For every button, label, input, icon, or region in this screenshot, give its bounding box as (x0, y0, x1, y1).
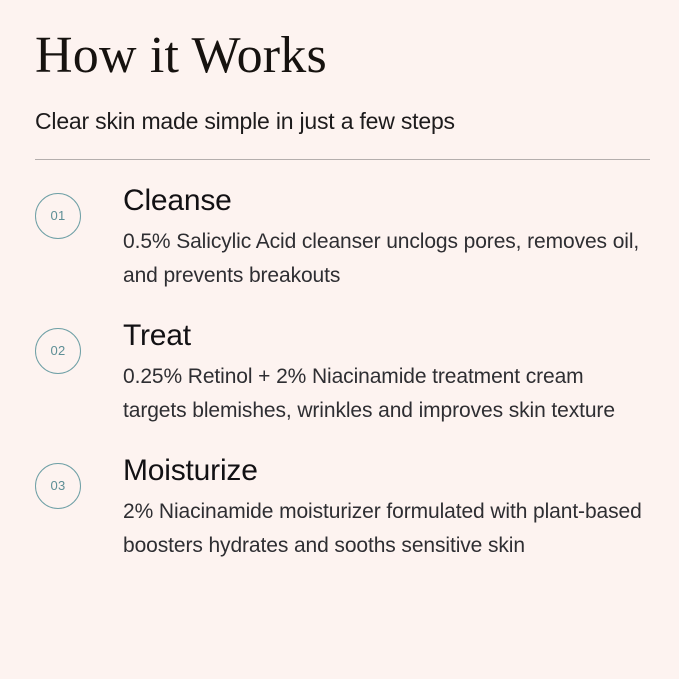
step-heading: Treat (123, 319, 650, 352)
step-content: Cleanse 0.5% Salicylic Acid cleanser unc… (81, 184, 650, 293)
step-number-label: 03 (50, 478, 65, 493)
step-heading: Cleanse (123, 184, 650, 217)
page-title: How it Works (35, 0, 650, 82)
how-it-works-panel: How it Works Clear skin made simple in j… (0, 0, 679, 679)
step-heading: Moisturize (123, 454, 650, 487)
step-description: 2% Niacinamide moisturizer formulated wi… (123, 487, 650, 563)
list-item: 03 Moisturize 2% Niacinamide moisturizer… (35, 454, 650, 563)
list-item: 02 Treat 0.25% Retinol + 2% Niacinamide … (35, 319, 650, 428)
step-description: 0.5% Salicylic Acid cleanser unclogs por… (123, 217, 650, 293)
step-number-badge: 01 (35, 193, 81, 239)
list-item: 01 Cleanse 0.5% Salicylic Acid cleanser … (35, 184, 650, 293)
step-number-label: 02 (50, 343, 65, 358)
header-divider (35, 159, 650, 160)
step-description: 0.25% Retinol + 2% Niacinamide treatment… (123, 352, 650, 428)
step-content: Moisturize 2% Niacinamide moisturizer fo… (81, 454, 650, 563)
step-number-label: 01 (50, 208, 65, 223)
steps-list: 01 Cleanse 0.5% Salicylic Acid cleanser … (35, 184, 650, 563)
step-number-badge: 03 (35, 463, 81, 509)
step-content: Treat 0.25% Retinol + 2% Niacinamide tre… (81, 319, 650, 428)
step-number-badge: 02 (35, 328, 81, 374)
page-subtitle: Clear skin made simple in just a few ste… (35, 82, 650, 136)
